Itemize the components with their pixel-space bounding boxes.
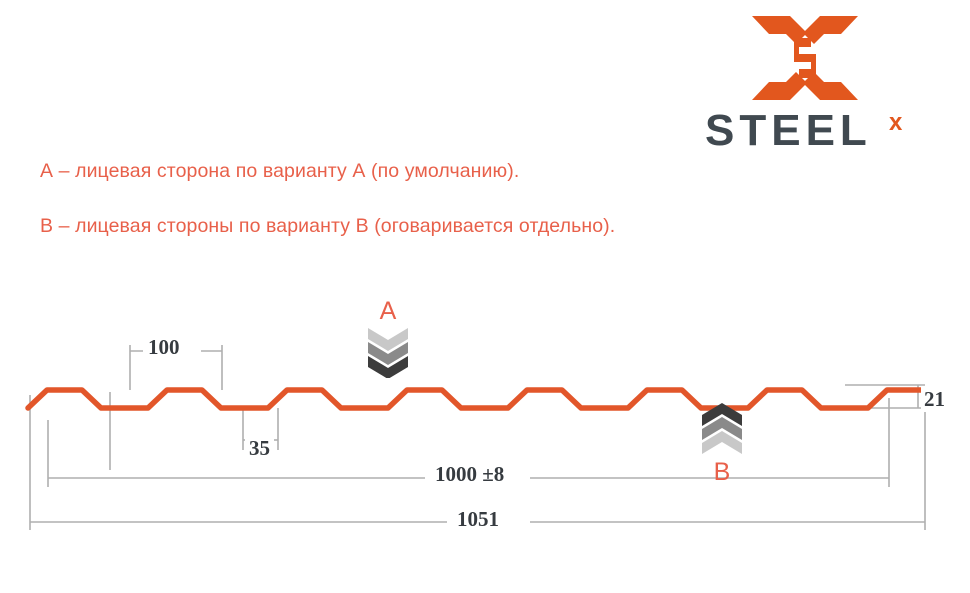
- dimension-lines: [30, 345, 925, 530]
- dimension-label-pitch: 100: [143, 335, 185, 360]
- side-b-chevrons-up-icon: [700, 402, 744, 454]
- side-b-marker-letter: В: [702, 458, 742, 487]
- profile-polyline: [28, 390, 941, 408]
- profile-drawing: [0, 0, 970, 593]
- side-a-marker-letter: А: [368, 297, 408, 326]
- dimension-label-effective-width: 1000 ±8: [427, 462, 512, 487]
- dimension-label-total-width: 1051: [449, 507, 507, 532]
- side-a-chevrons-down-icon: [366, 326, 410, 378]
- dimension-label-valley-width: 35: [245, 436, 274, 461]
- dimension-label-profile-height: 21: [921, 387, 948, 412]
